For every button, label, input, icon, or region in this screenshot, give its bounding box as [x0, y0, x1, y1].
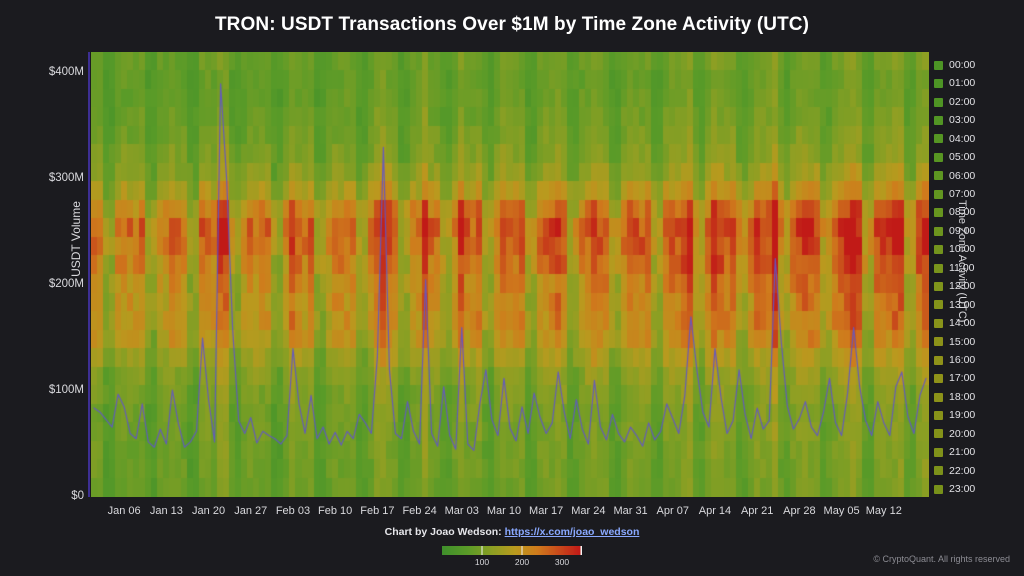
y-axis-label: USDT Volume: [69, 159, 83, 319]
legend-item-label: 19:00: [949, 410, 975, 421]
legend-swatch-icon: [934, 319, 943, 328]
x-axis-tick: Mar 10: [487, 505, 521, 517]
colorbar-gradient: [442, 546, 582, 555]
legend-item-label: 23:00: [949, 484, 975, 495]
credit-prefix: Chart by Joao Wedson:: [385, 526, 502, 538]
right-axis-label: Time Zone Activity (UTC): [956, 200, 968, 360]
legend-swatch-icon: [934, 337, 943, 346]
legend-swatch-icon: [934, 356, 943, 365]
colorbar-tick: 200: [515, 557, 529, 567]
legend-item-hour-2000[interactable]: 20:00: [934, 425, 996, 443]
legend-item-label: 21:00: [949, 447, 975, 458]
colorbar-tick: 100: [475, 557, 489, 567]
copyright-notice: © CryptoQuant. All rights reserved: [873, 554, 1010, 564]
plot-area: [91, 52, 929, 497]
legend-item-hour-0200[interactable]: 02:00: [934, 93, 996, 111]
y-axis-tick: $400M: [0, 66, 84, 78]
colorbar-tick-group: 100200300: [442, 557, 582, 571]
legend-item-label: 03:00: [949, 115, 975, 126]
legend-swatch-icon: [934, 411, 943, 420]
legend-swatch-icon: [934, 116, 943, 125]
legend-swatch-icon: [934, 61, 943, 70]
legend-swatch-icon: [934, 245, 943, 254]
colorbar-tick: 300: [555, 557, 569, 567]
x-axis-tick: Jan 27: [234, 505, 267, 517]
legend-item-label: 00:00: [949, 60, 975, 71]
legend-swatch-icon: [934, 98, 943, 107]
legend-item-label: 04:00: [949, 134, 975, 145]
legend-item-hour-0000[interactable]: 00:00: [934, 56, 996, 74]
author-link[interactable]: https://x.com/joao_wedson: [505, 526, 640, 538]
x-axis-tick: Apr 28: [783, 505, 815, 517]
x-axis-tick: Apr 21: [741, 505, 773, 517]
legend-item-hour-2100[interactable]: 21:00: [934, 443, 996, 461]
legend-item-hour-0300[interactable]: 03:00: [934, 111, 996, 129]
legend-item-hour-0100[interactable]: 01:00: [934, 74, 996, 92]
legend-swatch-icon: [934, 79, 943, 88]
chart-credit: Chart by Joao Wedson: https://x.com/joao…: [0, 526, 1024, 538]
legend-item-hour-1900[interactable]: 19:00: [934, 406, 996, 424]
legend-item-hour-0600[interactable]: 06:00: [934, 167, 996, 185]
legend-item-label: 20:00: [949, 429, 975, 440]
legend-item-label: 07:00: [949, 189, 975, 200]
x-axis-tick: Jan 13: [150, 505, 183, 517]
legend-item-hour-0400[interactable]: 04:00: [934, 130, 996, 148]
legend-item-label: 05:00: [949, 152, 975, 163]
legend-item-hour-2200[interactable]: 22:00: [934, 462, 996, 480]
chart-title: TRON: USDT Transactions Over $1M by Time…: [0, 14, 1024, 36]
legend-swatch-icon: [934, 485, 943, 494]
chart-root: TRON: USDT Transactions Over $1M by Time…: [0, 0, 1024, 576]
legend-swatch-icon: [934, 208, 943, 217]
x-axis-tick: Mar 03: [445, 505, 479, 517]
legend-item-hour-2300[interactable]: 23:00: [934, 480, 996, 498]
legend-item-hour-1700[interactable]: 17:00: [934, 369, 996, 387]
legend-swatch-icon: [934, 227, 943, 236]
legend-item-label: 17:00: [949, 373, 975, 384]
legend-swatch-icon: [934, 374, 943, 383]
legend-swatch-icon: [934, 264, 943, 273]
volume-line-canvas: [91, 52, 929, 497]
legend-swatch-icon: [934, 466, 943, 475]
legend-swatch-icon: [934, 300, 943, 309]
legend-item-hour-0500[interactable]: 05:00: [934, 148, 996, 166]
legend-item-label: 18:00: [949, 392, 975, 403]
legend-item-label: 01:00: [949, 78, 975, 89]
x-axis-tick: Mar 31: [613, 505, 647, 517]
x-axis-tick: Jan 20: [192, 505, 225, 517]
legend-swatch-icon: [934, 282, 943, 291]
legend-swatch-icon: [934, 190, 943, 199]
y-axis-spine: [88, 52, 90, 497]
x-axis-tick: Feb 17: [360, 505, 394, 517]
legend-item-label: 22:00: [949, 466, 975, 477]
legend-swatch-icon: [934, 429, 943, 438]
legend-swatch-icon: [934, 393, 943, 402]
x-axis-tick: May 05: [824, 505, 860, 517]
x-axis-tick: May 12: [866, 505, 902, 517]
x-axis-tick: Apr 07: [657, 505, 689, 517]
legend-item-hour-1800[interactable]: 18:00: [934, 388, 996, 406]
x-axis-tick: Mar 17: [529, 505, 563, 517]
x-axis-tick: Mar 24: [571, 505, 605, 517]
legend-swatch-icon: [934, 134, 943, 143]
colorbar: 100200300: [442, 546, 582, 571]
legend-swatch-icon: [934, 448, 943, 457]
legend-item-label: 06:00: [949, 171, 975, 182]
y-axis-tick: $0: [0, 490, 84, 502]
x-axis-tick: Apr 14: [699, 505, 731, 517]
legend-swatch-icon: [934, 153, 943, 162]
y-axis-tick: $100M: [0, 384, 84, 396]
legend-swatch-icon: [934, 171, 943, 180]
x-axis-tick: Feb 10: [318, 505, 352, 517]
x-axis-tick: Feb 24: [402, 505, 436, 517]
legend-item-label: 02:00: [949, 97, 975, 108]
x-axis-tick: Jan 06: [108, 505, 141, 517]
x-axis-tick: Feb 03: [276, 505, 310, 517]
